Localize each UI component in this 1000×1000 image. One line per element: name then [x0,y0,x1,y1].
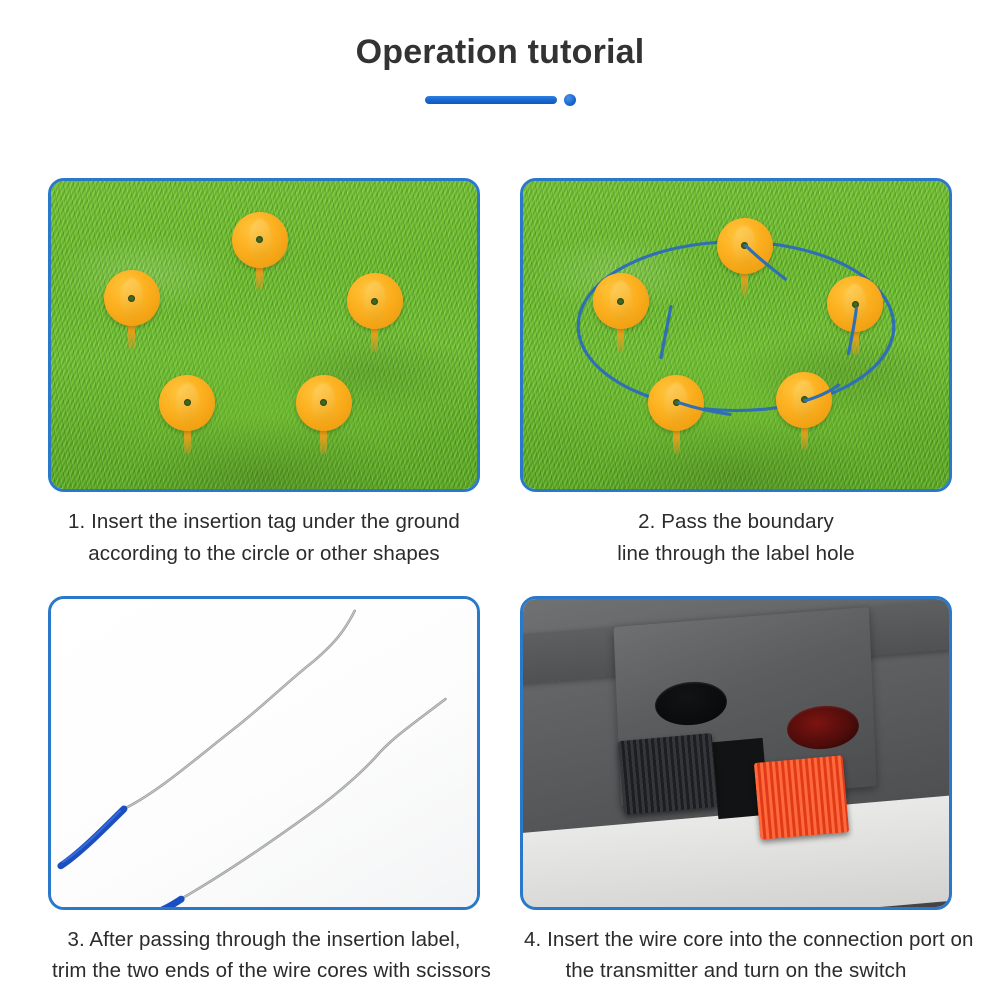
tag-hole-icon [256,236,263,243]
page-title: Operation tutorial [0,34,1000,71]
insertion-tag [159,375,215,431]
step-2-caption-line-1: 2. Pass the boundary [524,506,948,538]
step-1-caption: 1. Insert the insertion tag under the gr… [48,492,480,570]
insertion-tag [296,375,352,431]
step-card-1: 1. Insert the insertion tag under the gr… [48,178,480,570]
page-header: Operation tutorial [0,0,1000,107]
step-2-figure [520,178,952,492]
step-2-caption-line-2: line through the label hole [524,538,948,570]
transmitter-device [523,599,949,907]
step-3-figure [48,596,480,910]
step-2-caption: 2. Pass the boundary line through the la… [520,492,952,570]
step-3-caption: 3. After passing through the insertion l… [48,910,480,988]
step-1-caption-line-1: 1. Insert the insertion tag under the gr… [52,506,476,538]
insertion-tag [104,270,160,326]
wire-cores-icon [51,599,477,907]
title-divider [0,93,1000,107]
tutorial-steps-grid: 1. Insert the insertion tag under the gr… [48,178,952,987]
terminal-lever-black[interactable] [618,733,718,815]
step-card-3: 3. After passing through the insertion l… [48,596,480,988]
step-card-2: 2. Pass the boundary line through the la… [520,178,952,570]
step-4-caption: 4. Insert the wire core into the connect… [520,910,952,988]
terminal-lever-red[interactable] [754,755,850,840]
tag-hole-icon [184,399,191,406]
step-3-caption-line-2: trim the two ends of the wire cores with… [52,955,476,987]
step-1-figure [48,178,480,492]
insertion-tag [232,212,288,268]
step-1-caption-line-2: according to the circle or other shapes [52,538,476,570]
step-3-caption-line-1: 3. After passing through the insertion l… [52,924,476,956]
tag-hole-icon [371,298,378,305]
step-4-caption-line-2: the transmitter and turn on the switch [524,955,948,987]
divider-bar-icon [425,96,557,104]
step-4-caption-line-1: 4. Insert the wire core into the connect… [524,924,948,956]
divider-dot-icon [564,94,576,106]
step-card-4: 4. Insert the wire core into the connect… [520,596,952,988]
tag-hole-icon [320,399,327,406]
insertion-tag [347,273,403,329]
row-spacer [48,570,952,596]
tag-hole-icon [128,295,135,302]
boundary-wire-overlay-icon [523,181,949,489]
step-4-figure [520,596,952,910]
